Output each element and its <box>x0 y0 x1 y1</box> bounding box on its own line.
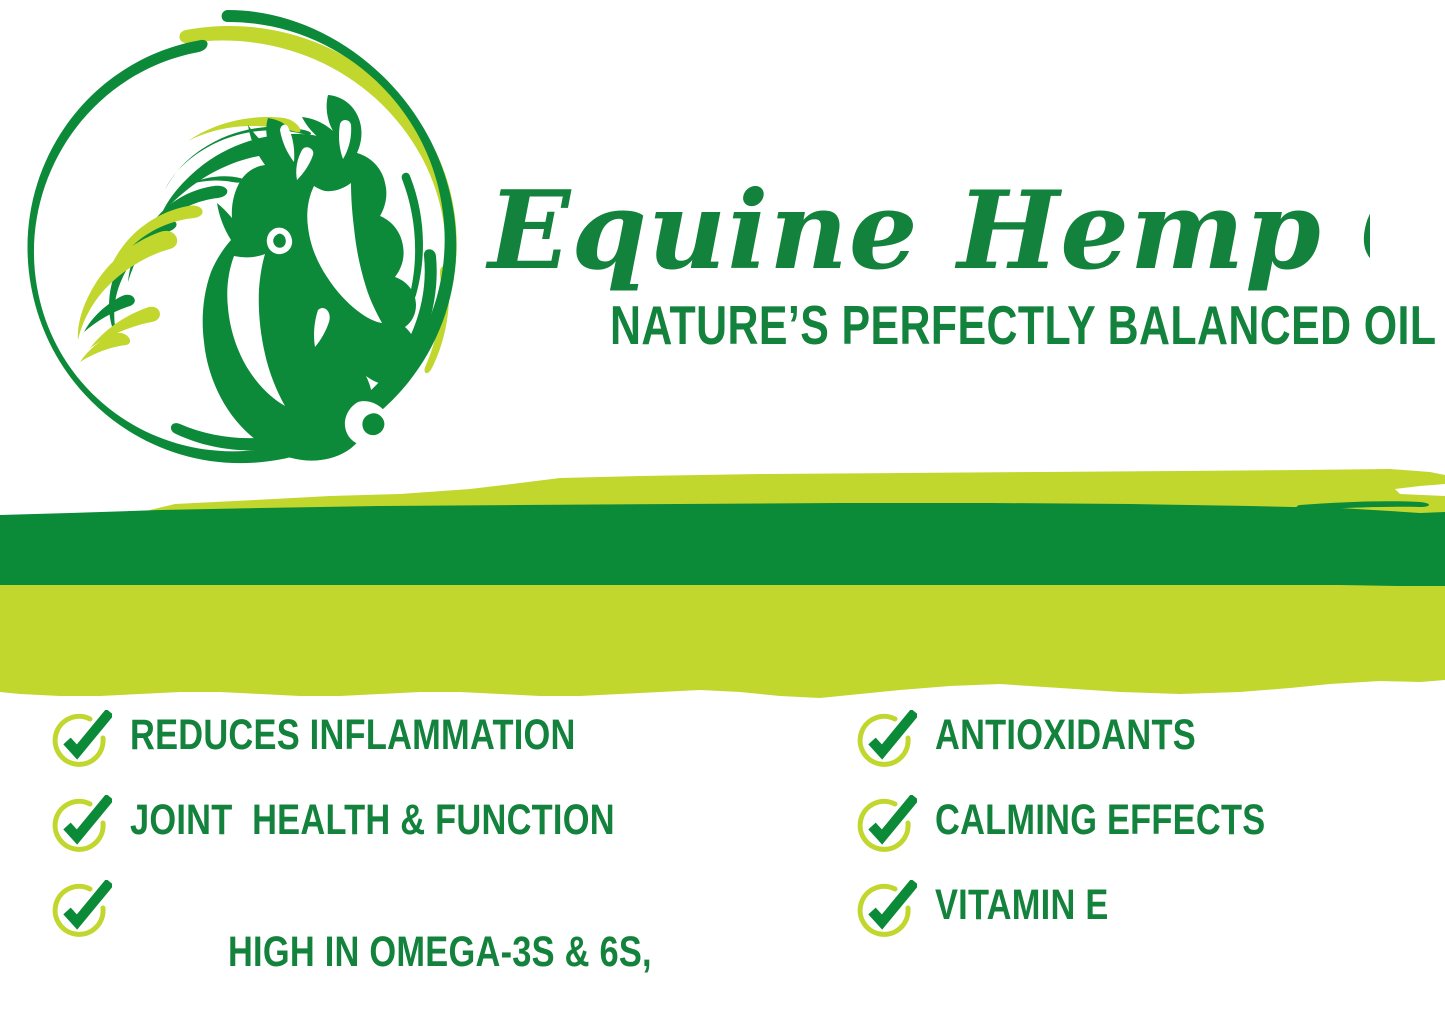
benefit-item: ANTIOXIDANTS <box>855 710 1261 772</box>
dark-green-band <box>0 503 1445 586</box>
horse-head-logo <box>18 10 478 470</box>
brand-script-wordmark: Equine Hemp Oil Equine Hemp Oil <box>480 168 1370 298</box>
logo-ring-inner-tail <box>402 173 423 300</box>
circle-check-icon <box>855 795 917 857</box>
circle-check-icon <box>50 710 112 772</box>
brand-script-text: Equine Hemp Oil <box>485 168 1370 294</box>
label-header: Equine Hemp Oil Equine Hemp Oil NATURE’S… <box>0 0 1445 480</box>
benefit-label: ANTIOXIDANTS <box>935 710 1196 759</box>
circle-check-icon <box>50 795 112 857</box>
benefit-label-line1: HIGH IN OMEGA-3S & 6S, <box>228 928 652 976</box>
benefit-item: VITAMIN E <box>855 880 1152 942</box>
product-label: Equine Hemp Oil Equine Hemp Oil NATURE’S… <box>0 0 1445 1009</box>
benefits-section: REDUCES INFLAMMATION JOINT HEALTH & FUNC… <box>0 700 1445 1000</box>
benefit-label: VITAMIN E <box>935 880 1109 929</box>
benefit-item: HIGH IN OMEGA-3S & 6S, AS WELL AS GLA <box>50 880 782 1009</box>
benefit-label-multiline: HIGH IN OMEGA-3S & 6S, AS WELL AS GLA <box>130 880 652 1009</box>
banner-block: COLD PRESSED FROM HEMP SEEDS 135 FL OZ |… <box>0 466 1445 706</box>
circle-check-icon <box>855 880 917 942</box>
benefit-item: JOINT HEALTH & FUNCTION <box>50 795 736 857</box>
brand-block: Equine Hemp Oil Equine Hemp Oil NATURE’S… <box>470 168 1370 383</box>
circle-check-icon <box>855 710 917 772</box>
benefit-label: JOINT HEALTH & FUNCTION <box>130 795 615 844</box>
brand-tagline: NATURE’S PERFECTLY BALANCED OIL <box>610 296 1195 356</box>
benefit-label: CALMING EFFECTS <box>935 795 1265 844</box>
benefit-item: REDUCES INFLAMMATION <box>50 710 687 772</box>
circle-check-icon <box>50 880 112 942</box>
benefit-label: REDUCES INFLAMMATION <box>130 710 576 759</box>
benefit-item: CALMING EFFECTS <box>855 795 1348 857</box>
